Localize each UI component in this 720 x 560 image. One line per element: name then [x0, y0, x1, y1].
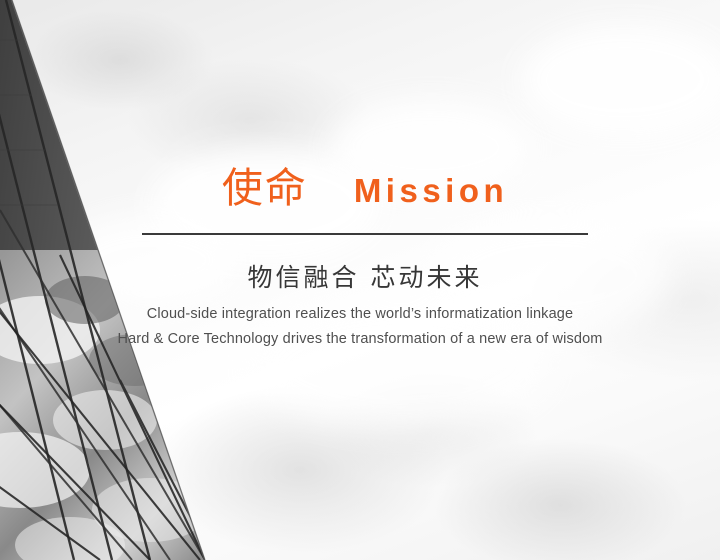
tagline-line-1: Cloud-side integration realizes the worl… — [60, 302, 660, 327]
hero-title-chinese: 使命 — [222, 168, 308, 209]
tagline-line-2: Hard & Core Technology drives the transf… — [60, 327, 660, 352]
hero-text-block: 使命 Mission 物信融合 芯动未来 Cloud-side integrat… — [0, 0, 720, 560]
title-divider-rule — [142, 233, 588, 235]
hero-title-english: Mission — [354, 174, 508, 207]
hero-tagline: Cloud-side integration realizes the worl… — [60, 302, 660, 352]
hero-title: 使命 Mission — [142, 168, 588, 228]
hero-subtitle: 物信融合 芯动未来 — [142, 258, 588, 294]
mission-banner: 使命 Mission 物信融合 芯动未来 Cloud-side integrat… — [0, 0, 720, 560]
